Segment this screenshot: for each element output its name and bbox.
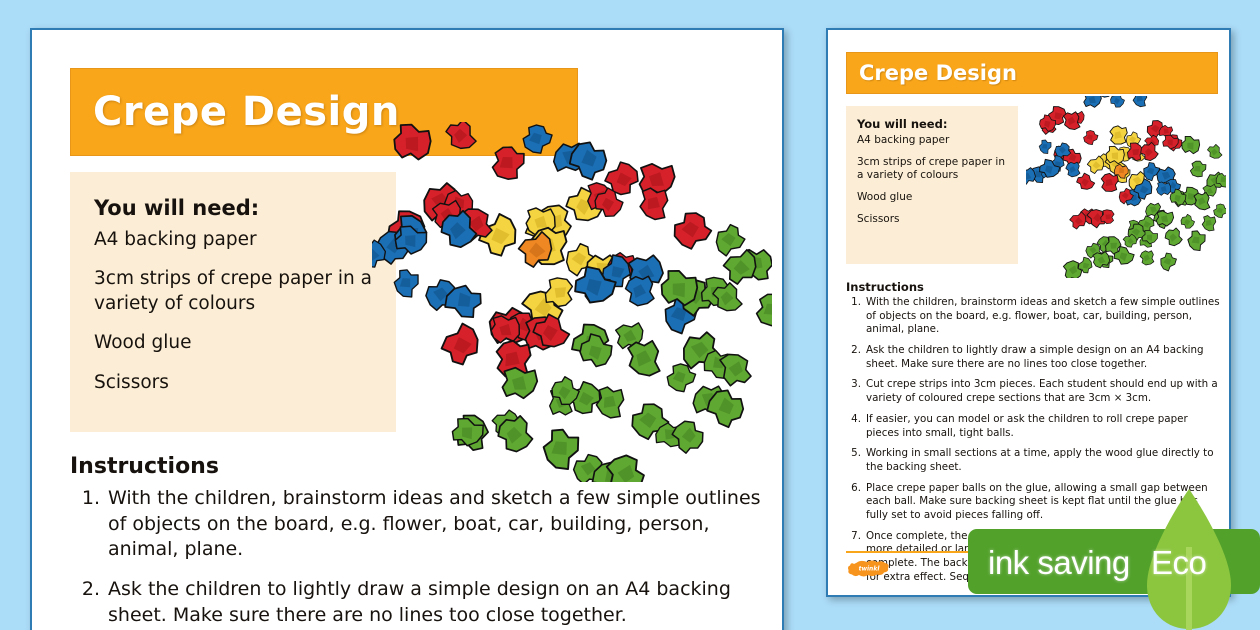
thumb-material-item: Scissors: [857, 213, 1008, 227]
step-number: 7.: [847, 530, 861, 544]
step-text: Cut crepe strips into 3cm pieces. Each s…: [866, 378, 1218, 404]
material-item: 3cm strips of crepe paper in a variety o…: [94, 267, 372, 316]
materials-box: You will need: A4 backing paper 3cm stri…: [70, 172, 396, 432]
instruction-step: 2. Ask the children to lightly draw a si…: [72, 577, 772, 628]
eco-label: Eco: [1151, 544, 1206, 582]
thumb-material-item: Wood glue: [857, 191, 1008, 205]
page-title: Crepe Design: [71, 89, 400, 135]
step-number: 6.: [847, 482, 861, 496]
step-number: 1.: [74, 486, 100, 512]
ink-saving-label: ink saving: [988, 544, 1130, 582]
step-text: With the children, brainstorm ideas and …: [866, 296, 1220, 335]
thumb-title-bar: Crepe Design: [846, 52, 1218, 94]
thumb-material-item: A4 backing paper: [857, 134, 1008, 148]
thumb-material-item: 3cm strips of crepe paper in a variety o…: [857, 156, 1008, 183]
step-number: 4.: [847, 413, 861, 427]
materials-heading: You will need:: [94, 196, 372, 220]
material-item: A4 backing paper: [94, 228, 372, 252]
material-item: Scissors: [94, 371, 372, 395]
step-text: Ask the children to lightly draw a simpl…: [866, 344, 1204, 370]
crepe-flower-artwork: [372, 122, 772, 482]
main-activity-page: Crepe Design You will need: A4 backing p…: [30, 28, 784, 630]
thumb-instructions-heading: Instructions: [846, 280, 924, 294]
step-text: Working in small sections at a time, app…: [866, 447, 1214, 473]
thumb-instruction-step: 1. With the children, brainstorm ideas a…: [846, 296, 1220, 337]
step-number: 3.: [847, 378, 861, 392]
thumb-instruction-step: 5. Working in small sections at a time, …: [846, 447, 1220, 474]
step-number: 2.: [74, 577, 100, 603]
thumb-instruction-step: 2. Ask the children to lightly draw a si…: [846, 344, 1220, 371]
instructions-heading: Instructions: [70, 454, 219, 479]
svg-text:twinkl: twinkl: [859, 566, 881, 573]
thumb-materials-heading: You will need:: [857, 117, 1008, 131]
thumb-instruction-step: 4. If easier, you can model or ask the c…: [846, 413, 1220, 440]
thumb-page-title: Crepe Design: [847, 61, 1017, 85]
step-text: Ask the children to lightly draw a simpl…: [108, 578, 731, 626]
step-number: 2.: [847, 344, 861, 358]
thumb-crepe-flower-artwork: [1026, 96, 1226, 278]
twinkl-logo[interactable]: twinkl: [847, 559, 891, 579]
instructions-list: 1. With the children, brainstorm ideas a…: [72, 486, 772, 630]
step-number: 1.: [847, 296, 861, 310]
step-number: 5.: [847, 447, 861, 461]
eco-ink-saving-badge: ink saving Eco: [968, 529, 1260, 594]
thumb-materials-box: You will need: A4 backing paper 3cm stri…: [846, 106, 1018, 264]
step-text: With the children, brainstorm ideas and …: [108, 487, 761, 560]
step-text: If easier, you can model or ask the chil…: [866, 413, 1188, 439]
material-item: Wood glue: [94, 331, 372, 355]
thumb-instruction-step: 3. Cut crepe strips into 3cm pieces. Eac…: [846, 378, 1220, 405]
instruction-step: 1. With the children, brainstorm ideas a…: [72, 486, 772, 563]
